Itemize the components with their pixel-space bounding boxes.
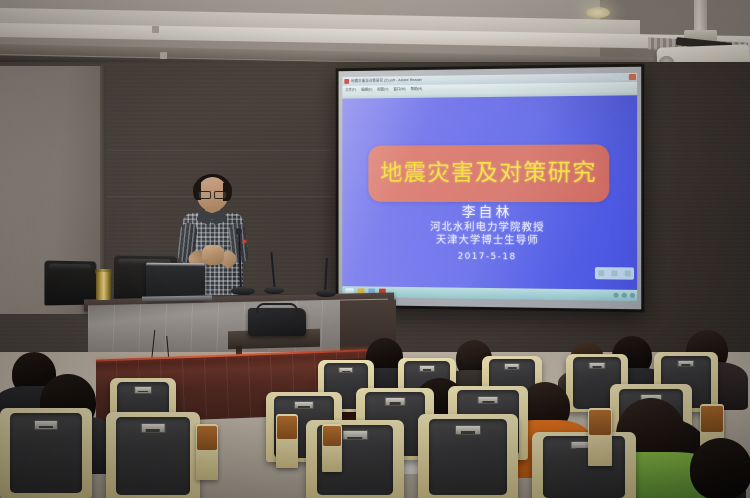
seat-number-tag [385,397,406,405]
seat-number-tag [294,401,314,409]
seat-number-tag [477,396,498,405]
audience-head [690,438,750,498]
seat-number-tag [34,420,58,430]
audience-seat[interactable] [418,414,518,498]
seat-number-tag [134,386,152,394]
audience-seat[interactable] [532,432,636,498]
seat-number-tag [455,425,481,435]
seat-number-tag [342,430,368,439]
lecture-hall-photo: 地震灾害及对策研究 (2).pdf - Adobe Reader 文件(F) 编… [0,0,750,498]
seat-armrest [276,414,298,468]
seat-number-tag [419,365,435,372]
audience-seat[interactable] [0,408,92,498]
seat-number-tag [504,363,520,370]
seat-number-tag [338,367,353,374]
seat-armrest [322,424,342,472]
seat-number-tag [589,362,606,369]
seat-armrest [588,408,612,466]
audience-seat[interactable] [106,412,200,498]
seat-number-tag [141,423,166,433]
audience-area [0,0,750,498]
audience-seat[interactable] [306,420,404,498]
seat-number-tag [677,360,694,367]
seat-armrest [196,424,218,480]
